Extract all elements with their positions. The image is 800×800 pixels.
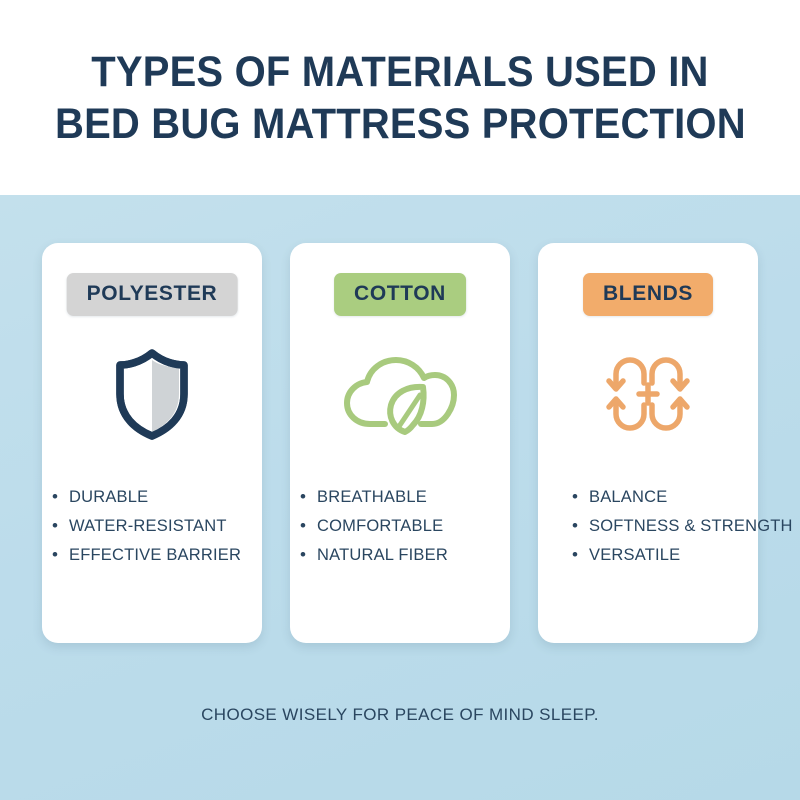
interlocking-arrows-plus-icon <box>538 339 758 449</box>
list-item: SOFTNESS & STRENGTH <box>572 512 794 541</box>
list-item: VERSATILE <box>572 541 794 570</box>
feature-list-blends: BALANCE SOFTNESS & STRENGTH VERSATILE <box>538 483 798 570</box>
list-item: BALANCE <box>572 483 794 512</box>
list-item: WATER-RESISTANT <box>52 512 258 541</box>
material-cards-container: POLYESTER DURABLE WATER-RESISTANT EFFECT… <box>0 243 800 643</box>
page-title-line-2: BED BUG MATTRESS PROTECTION <box>55 98 746 150</box>
list-item: BREATHABLE <box>300 483 506 512</box>
feature-list-cotton: BREATHABLE COMFORTABLE NATURAL FIBER <box>290 483 510 570</box>
header-band: TYPES OF MATERIALS USED IN BED BUG MATTR… <box>0 0 800 195</box>
card-badge-polyester: POLYESTER <box>67 273 238 316</box>
list-item: EFFECTIVE BARRIER <box>52 541 258 570</box>
material-card-cotton[interactable]: COTTON BREATHABLE COMFORTABLE NATURAL FI… <box>290 243 510 643</box>
list-item: DURABLE <box>52 483 258 512</box>
infographic-poster: TYPES OF MATERIALS USED IN BED BUG MATTR… <box>0 0 800 800</box>
card-badge-blends: BLENDS <box>583 273 713 316</box>
footer-tagline: CHOOSE WISELY FOR PEACE OF MIND SLEEP. <box>0 705 800 725</box>
feature-list-polyester: DURABLE WATER-RESISTANT EFFECTIVE BARRIE… <box>42 483 262 570</box>
list-item: NATURAL FIBER <box>300 541 506 570</box>
card-badge-cotton: COTTON <box>334 273 466 316</box>
list-item: COMFORTABLE <box>300 512 506 541</box>
shield-icon <box>42 339 262 449</box>
material-card-polyester[interactable]: POLYESTER DURABLE WATER-RESISTANT EFFECT… <box>42 243 262 643</box>
page-title-line-1: TYPES OF MATERIALS USED IN <box>91 46 708 98</box>
material-card-blends[interactable]: BLENDS <box>538 243 758 643</box>
cloud-leaf-icon <box>290 339 510 449</box>
